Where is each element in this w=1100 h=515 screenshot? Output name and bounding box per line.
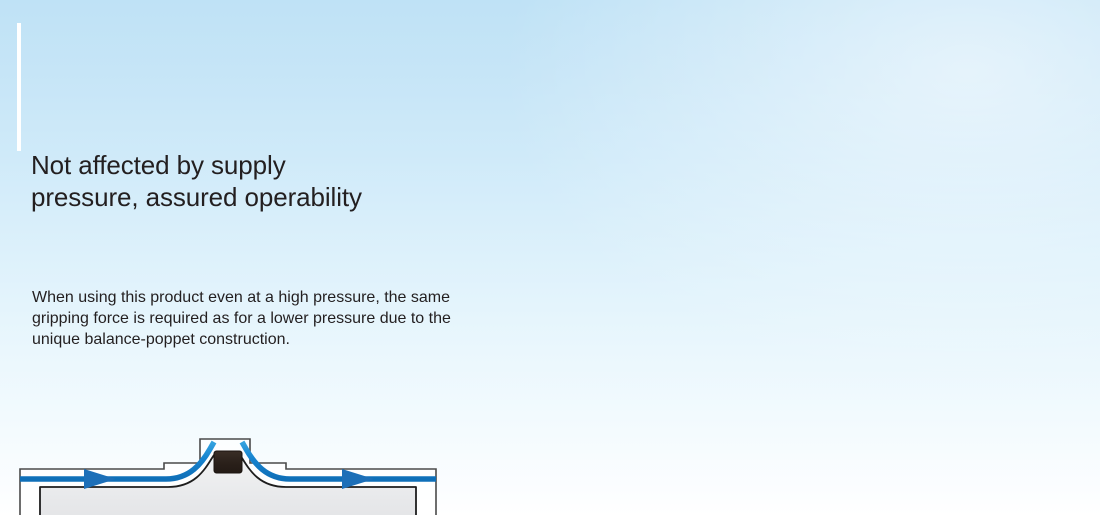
heading-supply-pressure: Not affected by supply pressure, assured… bbox=[31, 149, 541, 213]
valve-cross-section-svg bbox=[18, 427, 438, 515]
product-feature-panel: Not affected by supply pressure, assured… bbox=[0, 0, 1100, 515]
body-supply-pressure: When using this product even at a high p… bbox=[32, 287, 552, 350]
valve-seal-top bbox=[214, 451, 242, 473]
balance-poppet-valve-diagram bbox=[18, 427, 438, 515]
accent-bar-supply-pressure bbox=[17, 23, 21, 151]
